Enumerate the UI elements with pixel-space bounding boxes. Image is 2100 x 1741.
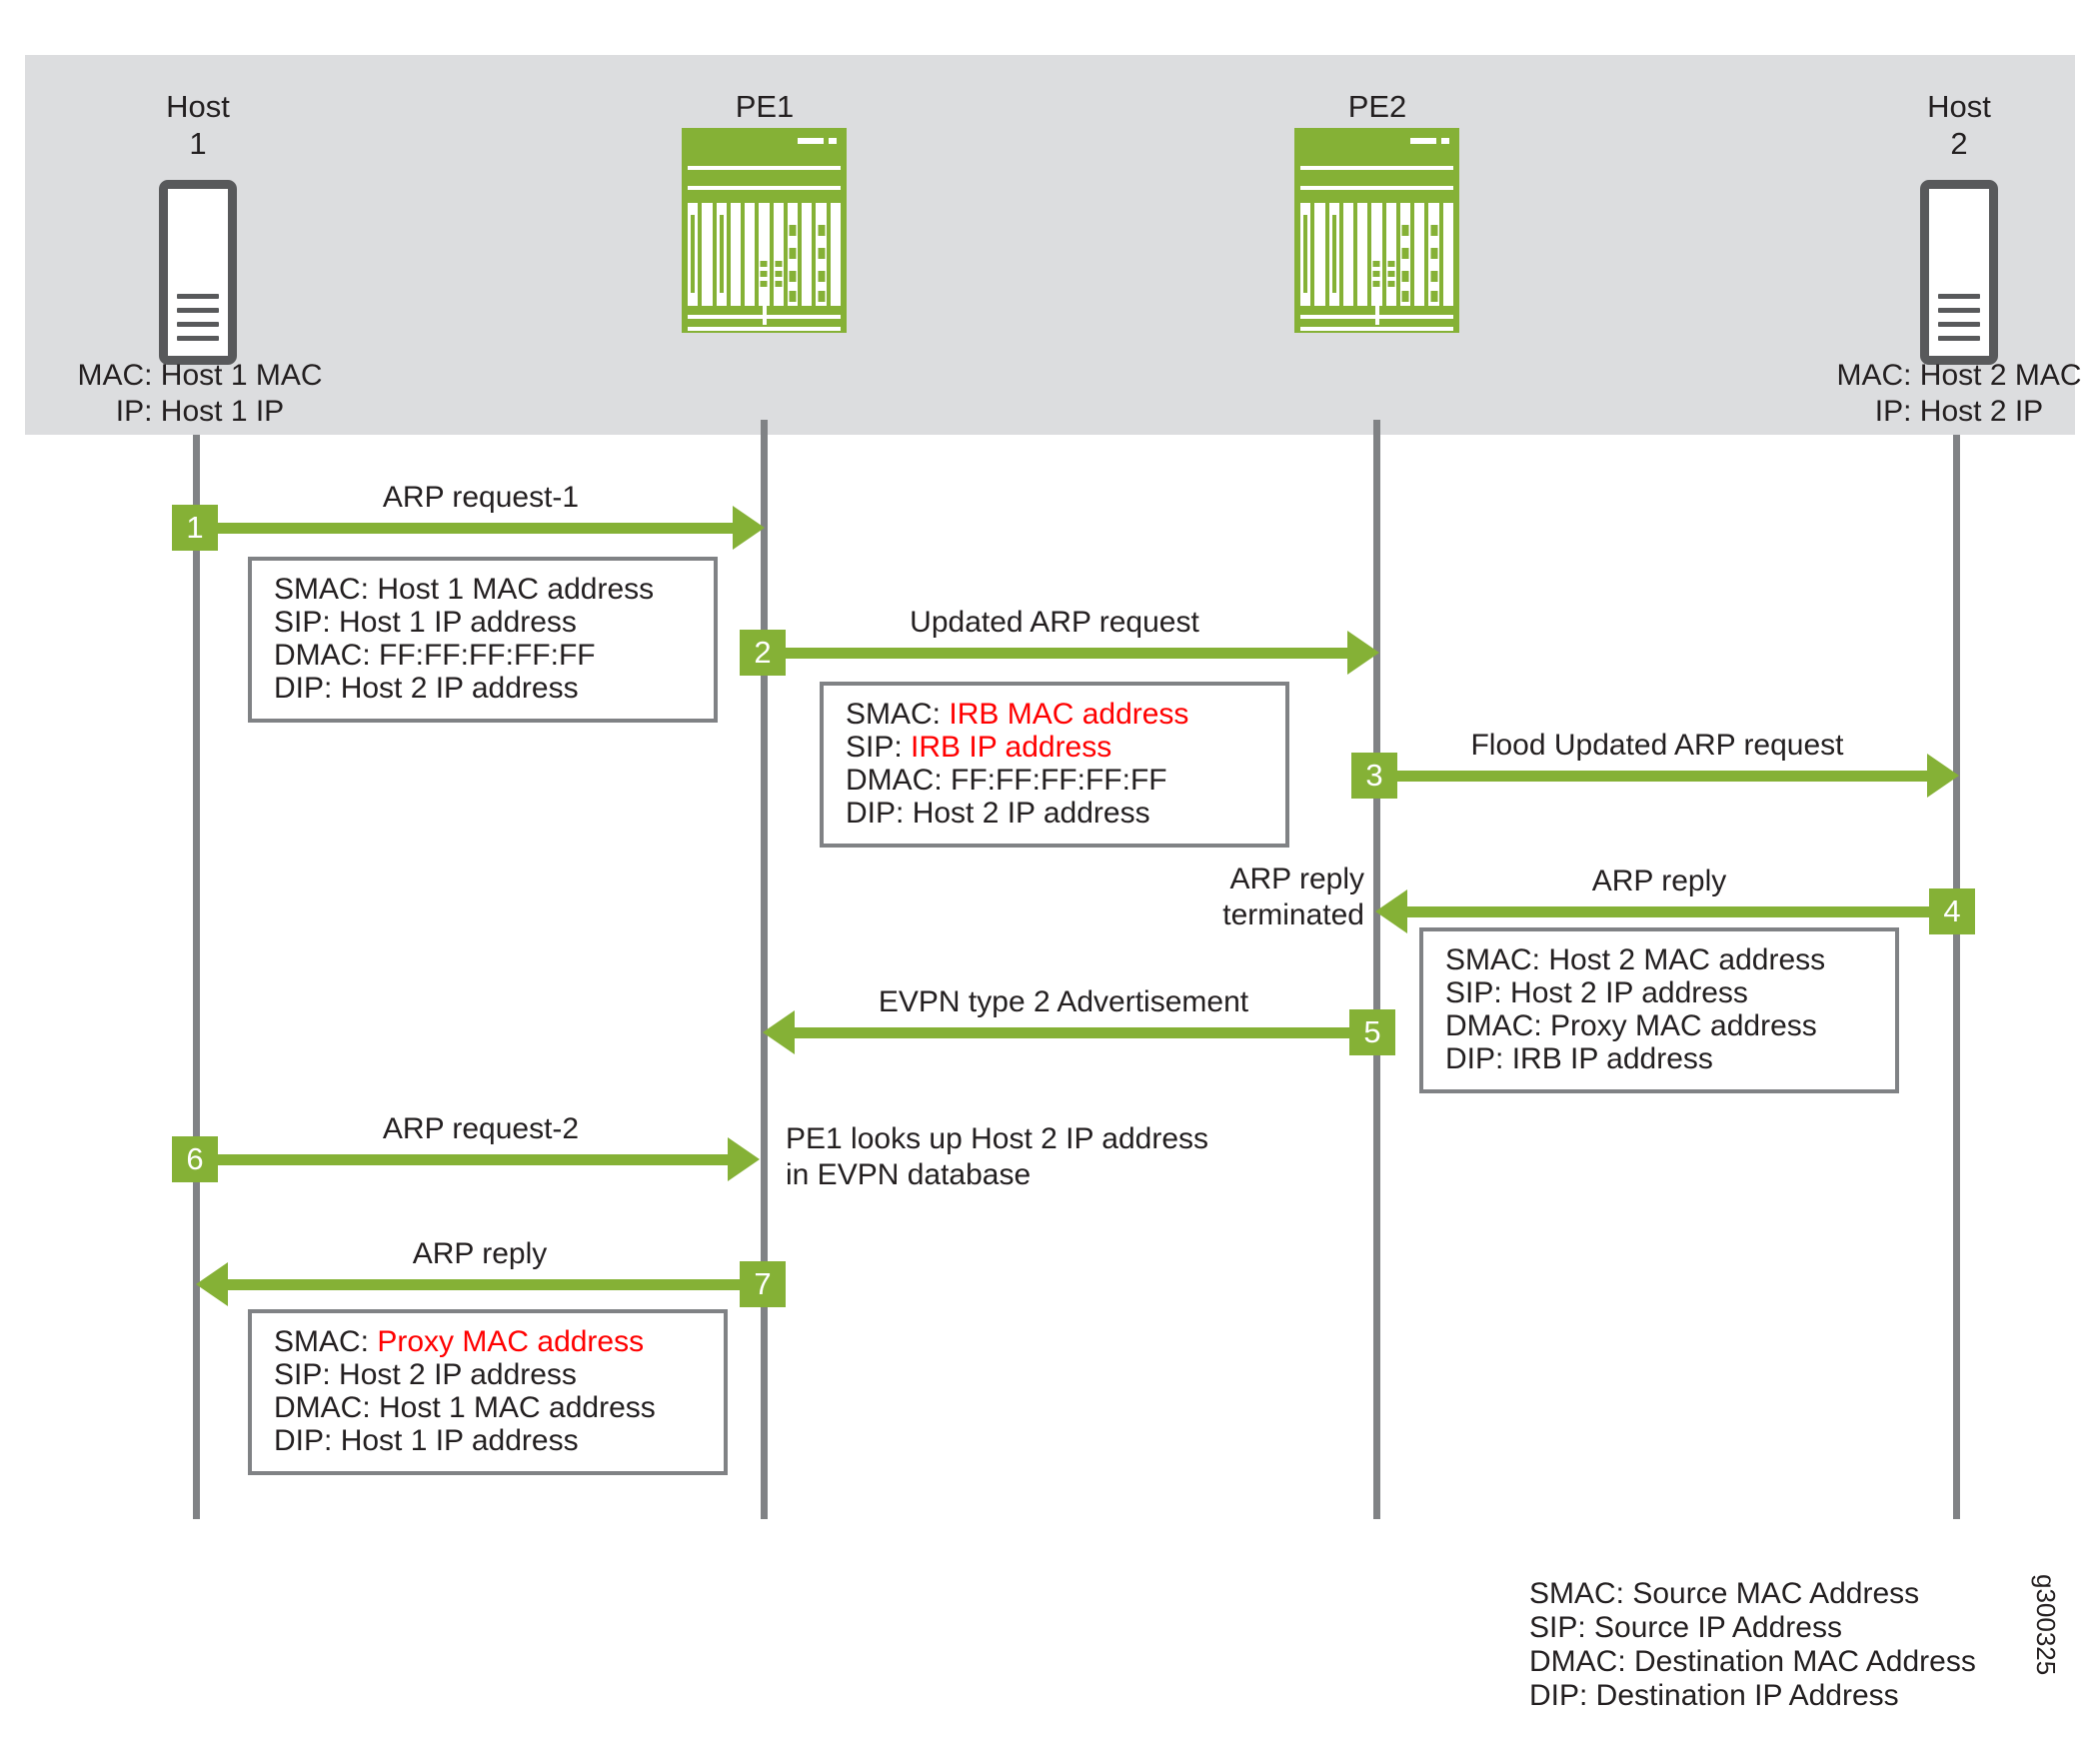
step-badge-4: 4 [1929, 888, 1975, 934]
step-badge-7: 7 [740, 1261, 786, 1307]
step-caption-4: ARP reply [1389, 864, 1929, 899]
step-arrowhead-7 [196, 1262, 228, 1306]
node-title-host1: Host 1 [60, 88, 336, 162]
figure-id-label: g300325 [2030, 1574, 2061, 1675]
router-led-icon [798, 138, 824, 144]
lifeline-pe2 [1373, 420, 1380, 1519]
router-rail-line [1300, 186, 1453, 190]
step-arrow-3 [1389, 771, 1929, 782]
annotation-pe1-lookup: PE1 looks up Host 2 IP address in EVPN d… [786, 1121, 1405, 1193]
router-slot-icon [763, 293, 767, 325]
step-badge-1: 1 [172, 505, 218, 551]
lifeline-host2 [1953, 435, 1960, 1519]
detail-box-7: SMAC: Proxy MAC address SIP: Host 2 IP a… [248, 1309, 728, 1475]
router-icon-pe1 [682, 128, 847, 333]
step-arrow-7 [228, 1279, 750, 1290]
router-linecards [688, 203, 841, 306]
router-rail-line [1300, 327, 1453, 331]
node-title-pe2: PE2 [1257, 88, 1497, 125]
step-caption-3: Flood Updated ARP request [1377, 728, 1937, 764]
detail-line: DIP: Host 1 IP address [274, 1424, 704, 1457]
detail-line: SIP: Host 2 IP address [274, 1358, 704, 1391]
detail-line: DIP: Host 2 IP address [846, 797, 1265, 830]
step-badge-2: 2 [740, 630, 786, 676]
detail-line: SMAC: Proxy MAC address [274, 1325, 704, 1358]
lifeline-pe1 [761, 420, 768, 1519]
step-arrowhead-3 [1927, 754, 1959, 798]
legend-item: DIP: Destination IP Address [1529, 1679, 1976, 1713]
step-caption-7: ARP reply [210, 1236, 750, 1272]
detail-line: DIP: IRB IP address [1445, 1042, 1875, 1075]
step-arrow-1 [210, 523, 735, 534]
detail-line: DMAC: FF:FF:FF:FF:FF [274, 639, 694, 672]
step-badge-6: 6 [172, 1136, 218, 1182]
detail-box-2: SMAC: IRB MAC address SIP: IRB IP addres… [820, 682, 1289, 848]
step-arrowhead-1 [733, 506, 765, 550]
detail-line: SIP: Host 1 IP address [274, 606, 694, 639]
router-led-icon [829, 138, 837, 144]
legend: SMAC: Source MAC Address SIP: Source IP … [1529, 1577, 1976, 1713]
detail-line: SMAC: Host 1 MAC address [274, 573, 694, 606]
step-caption-2: Updated ARP request [765, 605, 1344, 641]
step-arrowhead-5 [763, 1010, 795, 1054]
host-vents-icon [177, 294, 219, 340]
detail-line: SIP: Host 2 IP address [1445, 976, 1875, 1009]
node-title-pe1: PE1 [645, 88, 885, 125]
router-slot-icon [1375, 293, 1379, 325]
legend-item: DMAC: Destination MAC Address [1529, 1645, 1976, 1679]
node-title-host2: Host 2 [1821, 88, 2097, 162]
step-badge-3: 3 [1351, 753, 1397, 799]
host-meta-host2: MAC: Host 2 MAC IP: Host 2 IP [1779, 358, 2100, 430]
router-rail-line [688, 327, 841, 331]
detail-box-1: SMAC: Host 1 MAC address SIP: Host 1 IP … [248, 557, 718, 723]
router-rail-line [688, 186, 841, 190]
step-caption-5: EVPN type 2 Advertisement [778, 984, 1349, 1020]
router-rail-line [688, 166, 841, 170]
detail-line: DMAC: FF:FF:FF:FF:FF [846, 764, 1265, 797]
detail-line: DIP: Host 2 IP address [274, 672, 694, 705]
lifeline-host1 [193, 435, 200, 1519]
router-led-icon [1441, 138, 1449, 144]
host-icon-host2 [1920, 180, 1998, 365]
host-meta-host1: MAC: Host 1 MAC IP: Host 1 IP [20, 358, 380, 430]
step-arrow-4 [1407, 906, 1929, 917]
router-led-icon [1410, 138, 1436, 144]
step-arrowhead-6 [728, 1137, 760, 1181]
legend-item: SIP: Source IP Address [1529, 1611, 1976, 1645]
step-arrow-6 [210, 1154, 730, 1165]
step-arrowhead-2 [1347, 631, 1379, 675]
detail-line: DMAC: Proxy MAC address [1445, 1009, 1875, 1042]
detail-line: DMAC: Host 1 MAC address [274, 1391, 704, 1424]
step-arrow-5 [795, 1027, 1350, 1038]
router-rail-line [1300, 166, 1453, 170]
router-linecards [1300, 203, 1453, 306]
step-caption-1: ARP request-1 [197, 480, 765, 516]
step-arrowhead-4 [1375, 889, 1407, 933]
annotation-arp-terminated: ARP reply terminated [1159, 862, 1364, 933]
detail-box-4: SMAC: Host 2 MAC address SIP: Host 2 IP … [1419, 927, 1899, 1093]
legend-item: SMAC: Source MAC Address [1529, 1577, 1976, 1611]
detail-line: SMAC: IRB MAC address [846, 698, 1265, 731]
detail-line: SIP: IRB IP address [846, 731, 1265, 764]
detail-line: SMAC: Host 2 MAC address [1445, 943, 1875, 976]
step-arrow-2 [778, 648, 1349, 659]
host-vents-icon [1938, 294, 1980, 340]
router-icon-pe2 [1294, 128, 1459, 333]
step-badge-5: 5 [1349, 1009, 1395, 1055]
host-icon-host1 [159, 180, 237, 365]
step-caption-6: ARP request-2 [197, 1111, 765, 1147]
diagram-canvas: Host 1 MAC: Host 1 MAC IP: Host 1 IP PE1 [0, 0, 2100, 1741]
